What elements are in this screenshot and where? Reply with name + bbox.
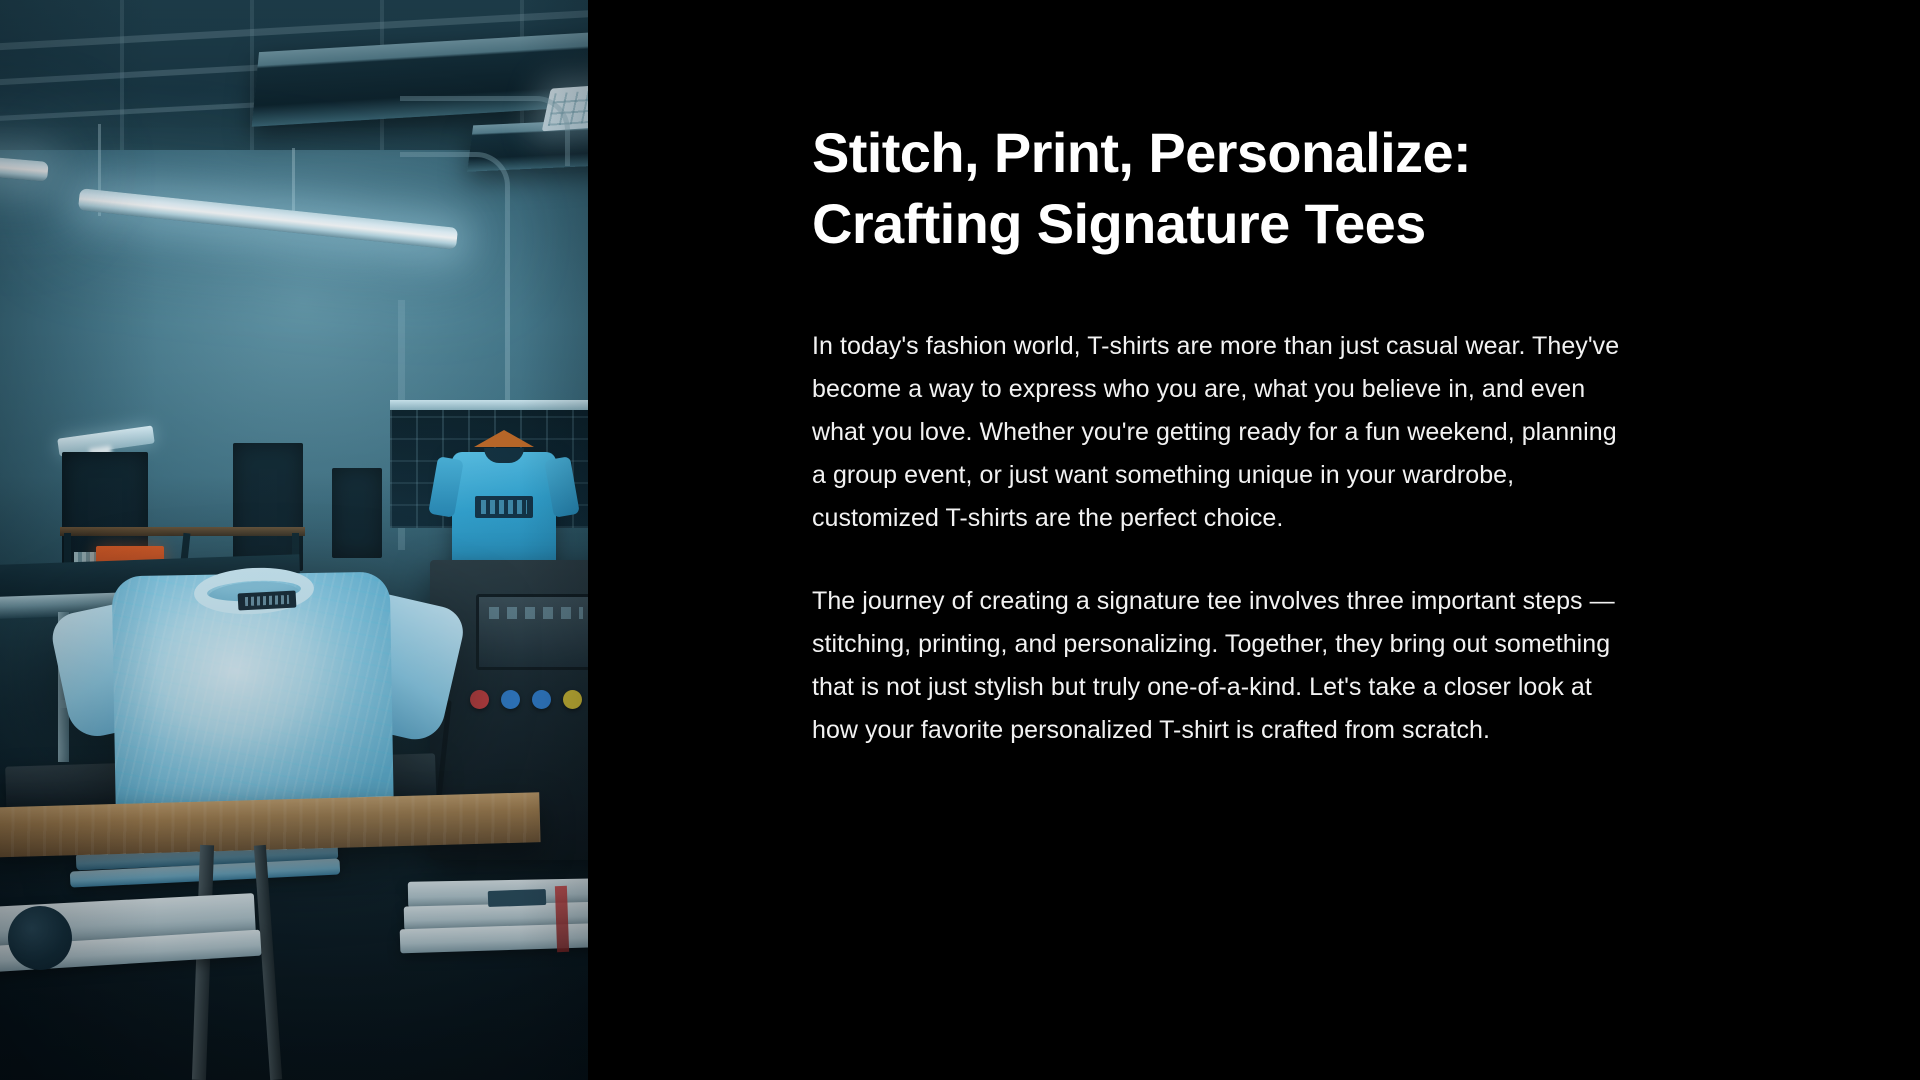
ink-dot-icon <box>532 690 551 709</box>
article-paragraph: The journey of creating a signature tee … <box>812 580 1624 752</box>
conduit-pipe-icon <box>400 96 570 166</box>
truss-brace-icon <box>250 0 254 150</box>
printer-control-screen <box>476 594 596 670</box>
hanger-icon <box>474 430 534 447</box>
tee-neck-label <box>238 590 297 610</box>
photo-right-crop <box>588 0 720 1080</box>
ink-dot-icon <box>563 690 582 709</box>
truss-brace-icon <box>120 0 124 150</box>
tee-graphic-print <box>475 496 533 518</box>
page-title: Stitch, Print, Personalize: Crafting Sig… <box>812 118 1672 259</box>
storage-cabinet <box>332 468 382 558</box>
tee-collar <box>484 448 524 463</box>
red-stripe-detail <box>555 886 569 952</box>
ink-cartridges <box>470 690 582 709</box>
ink-dot-icon <box>501 690 520 709</box>
ink-dot-icon <box>470 690 489 709</box>
article-paragraph: In today's fashion world, T-shirts are m… <box>812 325 1624 540</box>
garment-tag-print <box>488 889 547 907</box>
article-hero-split: Stitch, Print, Personalize: Crafting Sig… <box>0 0 1920 1080</box>
hero-image <box>0 0 720 1080</box>
article-content-panel: Stitch, Print, Personalize: Crafting Sig… <box>720 0 1920 1080</box>
workshop-scene <box>0 0 720 1080</box>
